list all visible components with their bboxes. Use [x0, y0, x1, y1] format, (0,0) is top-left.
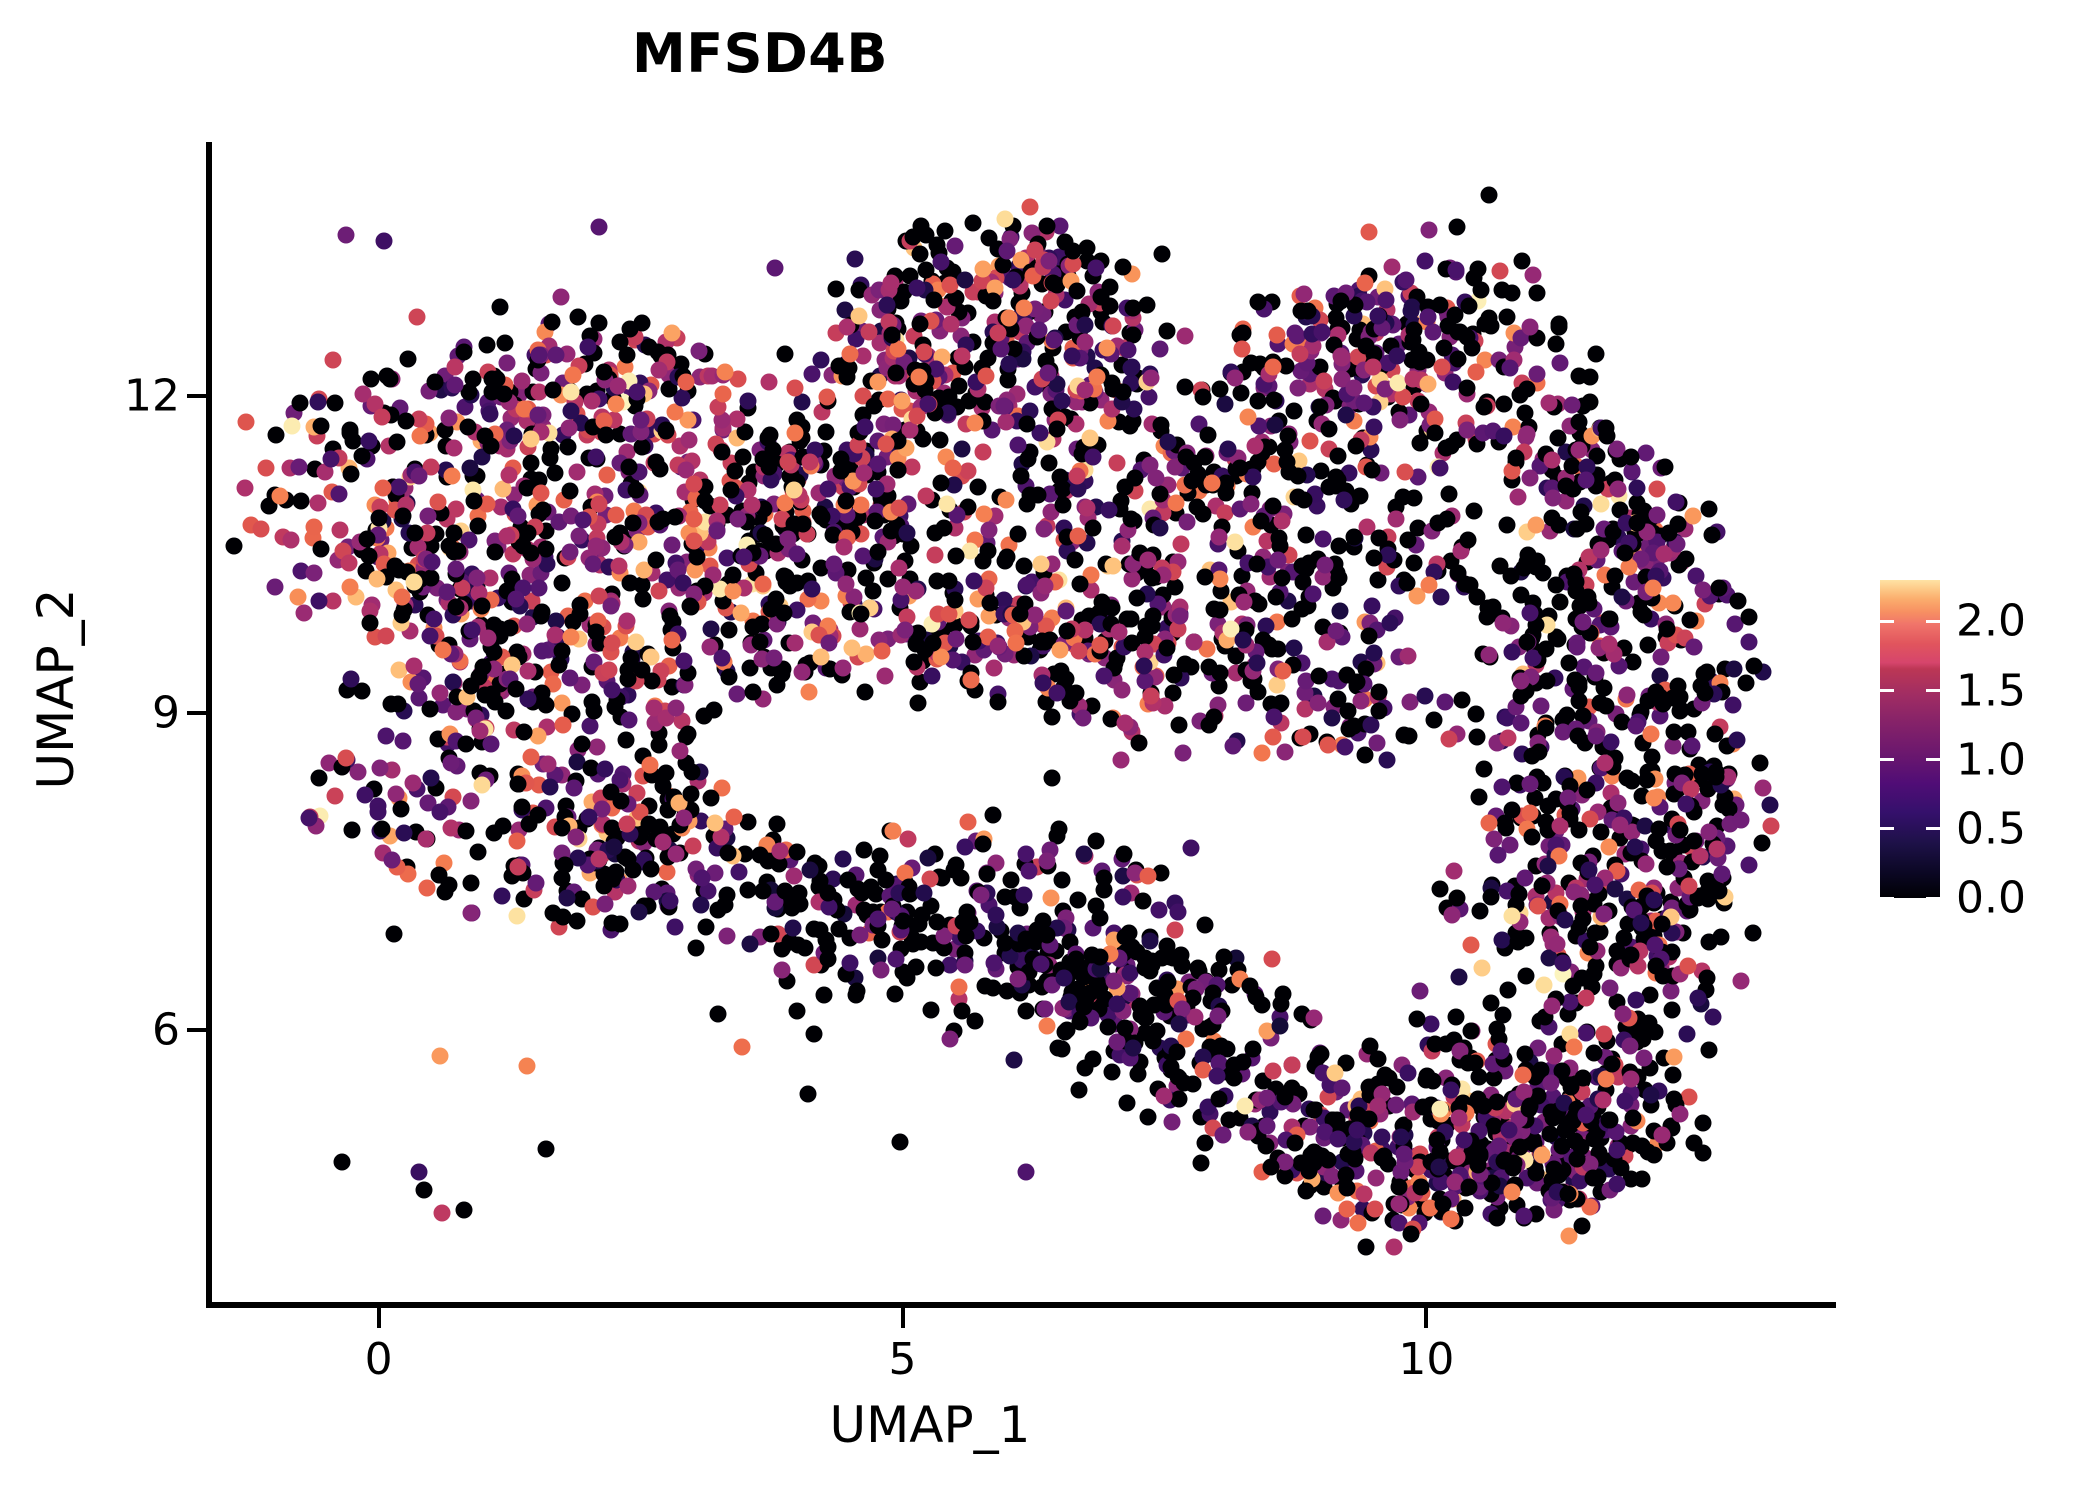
scatter-point [324, 352, 341, 369]
scatter-point [713, 443, 730, 460]
scatter-point [960, 814, 977, 831]
scatter-point [1659, 621, 1676, 638]
scatter-point [666, 918, 683, 935]
scatter-point [765, 650, 782, 667]
scatter-point [419, 880, 436, 897]
scatter-point [283, 531, 300, 548]
scatter-point [1237, 1097, 1254, 1114]
scatter-point [865, 397, 882, 414]
scatter-point [482, 405, 499, 422]
scatter-point [1434, 358, 1451, 375]
scatter-point [1077, 316, 1094, 333]
scatter-point [648, 552, 665, 569]
scatter-point [1148, 1022, 1165, 1039]
scatter-point [1328, 622, 1345, 639]
scatter-point [924, 668, 941, 685]
scatter-point [788, 546, 805, 563]
scatter-point [1095, 668, 1112, 685]
scatter-point [306, 519, 323, 536]
scatter-point [838, 575, 855, 592]
scatter-point [1392, 412, 1409, 429]
scatter-point [1611, 817, 1628, 834]
scatter-point [977, 367, 994, 384]
scatter-point [1035, 520, 1052, 537]
scatter-point [1624, 1109, 1641, 1126]
scatter-point [1053, 871, 1070, 888]
scatter-point [1701, 823, 1718, 840]
scatter-point [787, 635, 804, 652]
scatter-point [1170, 1016, 1187, 1033]
scatter-point [1290, 468, 1307, 485]
scatter-point [374, 408, 391, 425]
scatter-point [1084, 520, 1101, 537]
scatter-point [1528, 365, 1545, 382]
scatter-point [1365, 644, 1382, 661]
scatter-point [1483, 994, 1500, 1011]
scatter-point [1296, 285, 1313, 302]
scatter-point [858, 569, 875, 586]
scatter-point [1122, 360, 1139, 377]
scatter-point [1413, 1179, 1430, 1196]
scatter-point [729, 511, 746, 528]
scatter-point [1341, 720, 1358, 737]
scatter-point [1629, 480, 1646, 497]
scatter-point [1364, 358, 1381, 375]
scatter-point [1289, 380, 1306, 397]
scatter-point [1492, 1043, 1509, 1060]
scatter-point [1488, 1021, 1505, 1038]
scatter-point [469, 569, 486, 586]
scatter-point [312, 541, 329, 558]
scatter-point [1443, 1211, 1460, 1228]
scatter-point [793, 394, 810, 411]
scatter-point [1079, 239, 1096, 256]
scatter-point [1362, 717, 1379, 734]
scatter-point [595, 878, 612, 895]
scatter-point [1258, 1090, 1275, 1107]
scatter-point [1300, 1162, 1317, 1179]
scatter-point [716, 364, 733, 381]
colorbar-tick-mark [1926, 689, 1940, 692]
scatter-point [990, 637, 1007, 654]
scatter-point [1284, 611, 1301, 628]
scatter-point [1667, 494, 1684, 511]
scatter-point [1416, 253, 1433, 270]
scatter-point [643, 861, 660, 878]
scatter-point [1358, 1239, 1375, 1256]
scatter-point [1159, 433, 1176, 450]
scatter-point [1632, 603, 1649, 620]
scatter-point [540, 755, 557, 772]
scatter-point [1627, 717, 1644, 734]
scatter-point [1366, 550, 1383, 567]
scatter-point [1685, 833, 1702, 850]
scatter-point [1645, 1146, 1662, 1163]
scatter-point [1480, 814, 1497, 831]
scatter-point [1324, 710, 1341, 727]
scatter-point [1197, 568, 1214, 585]
scatter-point [867, 512, 884, 529]
scatter-point [1249, 654, 1266, 671]
scatter-point [1629, 515, 1646, 532]
scatter-point [362, 370, 379, 387]
scatter-point [1294, 558, 1311, 575]
scatter-point [1521, 470, 1538, 487]
scatter-point [523, 749, 540, 766]
scatter-point [1357, 337, 1374, 354]
scatter-point [1628, 991, 1645, 1008]
scatter-point [789, 1002, 806, 1019]
scatter-point [802, 454, 819, 471]
scatter-point [1232, 459, 1249, 476]
scatter-point [1048, 421, 1065, 438]
x-tick-label: 5 [889, 1334, 917, 1385]
scatter-point [981, 522, 998, 539]
scatter-point [1250, 294, 1267, 311]
scatter-point [1621, 559, 1638, 576]
scatter-point [1548, 335, 1565, 352]
scatter-point [890, 559, 907, 576]
scatter-point [1153, 246, 1170, 263]
scatter-point [1389, 374, 1406, 391]
scatter-point [493, 888, 510, 905]
scatter-point [607, 507, 624, 524]
scatter-point [434, 641, 451, 658]
scatter-point [1053, 392, 1070, 409]
scatter-point [1032, 633, 1049, 650]
scatter-point [292, 394, 309, 411]
scatter-point [1469, 260, 1486, 277]
scatter-point [1172, 607, 1189, 624]
scatter-point [1509, 488, 1526, 505]
scatter-point [719, 887, 736, 904]
scatter-point [1466, 502, 1483, 519]
scatter-point [482, 736, 499, 753]
scatter-point [1251, 596, 1268, 613]
scatter-point [667, 508, 684, 525]
scatter-point [1741, 857, 1758, 874]
scatter-point [1165, 667, 1182, 684]
scatter-point [1084, 1050, 1101, 1067]
scatter-point [1177, 327, 1194, 344]
scatter-point [588, 449, 605, 466]
scatter-point [956, 838, 973, 855]
scatter-point [1273, 569, 1290, 586]
scatter-point [1500, 1121, 1517, 1138]
scatter-point [1500, 729, 1517, 746]
scatter-point [1302, 432, 1319, 449]
scatter-point [1009, 970, 1026, 987]
scatter-point [724, 567, 741, 584]
scatter-point [1540, 395, 1557, 412]
scatter-point [920, 849, 937, 866]
scatter-point [1547, 577, 1564, 594]
scatter-point [1371, 703, 1388, 720]
scatter-point [1737, 674, 1754, 691]
scatter-point [1432, 1100, 1449, 1117]
scatter-point [893, 393, 910, 410]
scatter-point [736, 548, 753, 565]
scatter-point [432, 1048, 449, 1065]
scatter-point [1329, 1111, 1346, 1128]
scatter-point [406, 658, 423, 675]
scatter-point [763, 925, 780, 942]
scatter-point [338, 749, 355, 766]
scatter-point [422, 569, 439, 586]
scatter-point [932, 254, 949, 271]
scatter-point [734, 1039, 751, 1056]
scatter-point [1113, 682, 1130, 699]
scatter-point [939, 495, 956, 512]
scatter-point [1398, 272, 1415, 289]
scatter-point [1347, 1150, 1364, 1167]
scatter-point [789, 843, 806, 860]
scatter-point [1171, 1090, 1188, 1107]
scatter-point [447, 500, 464, 517]
scatter-point [560, 420, 577, 437]
scatter-point [431, 804, 448, 821]
scatter-point [607, 529, 624, 546]
scatter-point [941, 606, 958, 623]
scatter-point [912, 245, 929, 262]
scatter-point [416, 1182, 433, 1199]
scatter-point [1287, 1135, 1304, 1152]
scatter-point [1169, 903, 1186, 920]
scatter-point [986, 659, 1003, 676]
scatter-point [1461, 1178, 1478, 1195]
scatter-point [605, 839, 622, 856]
scatter-point [910, 368, 927, 385]
colorbar-tick-mark [1880, 620, 1894, 623]
scatter-point [1211, 570, 1228, 587]
scatter-point [1329, 447, 1346, 464]
scatter-point [1390, 1195, 1407, 1212]
scatter-point [1693, 678, 1710, 695]
scatter-point [1568, 520, 1585, 537]
scatter-point [427, 374, 444, 391]
scatter-point [1482, 888, 1499, 905]
scatter-point [508, 908, 525, 925]
scatter-point [1331, 603, 1348, 620]
scatter-point [404, 774, 421, 791]
scatter-point [641, 339, 658, 356]
scatter-point [1115, 889, 1132, 906]
scatter-point [1114, 259, 1131, 276]
scatter-point [1029, 922, 1046, 939]
scatter-point [811, 921, 828, 938]
scatter-point [715, 386, 732, 403]
scatter-point [588, 623, 605, 640]
scatter-point [571, 527, 588, 544]
scatter-point [310, 394, 327, 411]
scatter-point [625, 861, 642, 878]
scatter-point [514, 372, 531, 389]
scatter-point [1508, 450, 1525, 467]
colorbar-tick-mark [1926, 620, 1940, 623]
scatter-point [556, 857, 573, 874]
scatter-point [1091, 910, 1108, 927]
scatter-point [602, 597, 619, 614]
scatter-point [586, 703, 603, 720]
scatter-point [1691, 848, 1708, 865]
scatter-point [1284, 1056, 1301, 1073]
scatter-point [841, 345, 858, 362]
scatter-point [544, 381, 561, 398]
y-tick-label: 12 [124, 370, 180, 421]
scatter-point [899, 970, 916, 987]
scatter-point [1212, 601, 1229, 618]
scatter-point [1272, 1018, 1289, 1035]
scatter-point [581, 809, 598, 826]
scatter-point [1518, 425, 1535, 442]
scatter-point [683, 785, 700, 802]
scatter-point [1712, 928, 1729, 945]
scatter-point [1657, 459, 1674, 476]
scatter-point [1495, 614, 1512, 631]
scatter-point [1661, 525, 1678, 542]
scatter-point [1297, 526, 1314, 543]
scatter-point [754, 575, 771, 592]
scatter-point [1178, 514, 1195, 531]
scatter-point [1039, 365, 1056, 382]
scatter-point [370, 509, 387, 526]
scatter-point [1382, 615, 1399, 632]
scatter-point [510, 508, 527, 525]
scatter-point [1269, 677, 1286, 694]
scatter-point [1364, 462, 1381, 479]
colorbar-tick-mark [1926, 758, 1940, 761]
scatter-point [1355, 394, 1372, 411]
scatter-point [1481, 187, 1498, 204]
scatter-point [1686, 1134, 1703, 1151]
scatter-point [1522, 604, 1539, 621]
scatter-point [1538, 719, 1555, 736]
scatter-point [1021, 198, 1038, 215]
scatter-point [1334, 1080, 1351, 1097]
scatter-point [399, 350, 416, 367]
scatter-point [1431, 459, 1448, 476]
scatter-point [675, 809, 692, 826]
scatter-point [434, 1205, 451, 1222]
scatter-point [730, 863, 747, 880]
y-axis-label: UMAP_2 [27, 529, 85, 849]
scatter-point [1434, 1195, 1451, 1212]
scatter-point [1124, 299, 1141, 316]
scatter-point [1276, 1089, 1293, 1106]
y-tick-label: 9 [152, 687, 180, 738]
scatter-point [785, 482, 802, 499]
scatter-point [1071, 1081, 1088, 1098]
scatter-point [1592, 823, 1609, 840]
scatter-point [523, 455, 540, 472]
scatter-point [664, 325, 681, 342]
scatter-point [812, 648, 829, 665]
scatter-point [1182, 839, 1199, 856]
scatter-point [1518, 633, 1535, 650]
scatter-point [931, 431, 948, 448]
scatter-point [1553, 1137, 1570, 1154]
x-axis-label: UMAP_1 [0, 1396, 1860, 1454]
scatter-point [1762, 818, 1779, 835]
scatter-point [474, 777, 491, 794]
scatter-point [1450, 969, 1467, 986]
scatter-point [954, 913, 971, 930]
scatter-point [989, 693, 1006, 710]
scatter-point [450, 543, 467, 560]
scatter-point [985, 954, 1002, 971]
scatter-point [786, 379, 803, 396]
colorbar-tick-mark [1926, 897, 1940, 900]
scatter-point [635, 590, 652, 607]
scatter-point [723, 481, 740, 498]
scatter-point [353, 448, 370, 465]
scatter-point [1139, 867, 1156, 884]
scatter-point [1494, 779, 1511, 796]
scatter-point [1565, 978, 1582, 995]
scatter-point [1387, 510, 1404, 527]
scatter-point [800, 1085, 817, 1102]
scatter-point [870, 543, 887, 560]
scatter-point [596, 896, 613, 913]
scatter-point [583, 393, 600, 410]
scatter-point [1604, 1055, 1621, 1072]
scatter-point [1680, 877, 1697, 894]
scatter-point [471, 723, 488, 740]
scatter-point [544, 904, 561, 921]
scatter-point [463, 875, 480, 892]
scatter-point [915, 885, 932, 902]
scatter-point [960, 612, 977, 629]
scatter-point [1523, 747, 1540, 764]
scatter-point [483, 437, 500, 454]
scatter-point [342, 425, 359, 442]
scatter-point [1561, 654, 1578, 671]
scatter-point [1496, 428, 1513, 445]
scatter-point [572, 597, 589, 614]
scatter-point [1168, 494, 1185, 511]
scatter-point [1116, 846, 1133, 863]
scatter-point [1521, 775, 1538, 792]
scatter-point [785, 919, 802, 936]
scatter-point [374, 479, 391, 496]
scatter-point [928, 960, 945, 977]
scatter-point [848, 983, 865, 1000]
scatter-point [740, 393, 757, 410]
scatter-point [1538, 673, 1555, 690]
scatter-point [851, 927, 868, 944]
scatter-point [771, 843, 788, 860]
scatter-point [1155, 1088, 1172, 1105]
scatter-point [1000, 372, 1017, 389]
scatter-point [1403, 299, 1420, 316]
scatter-point [976, 505, 993, 522]
scatter-point [1510, 933, 1527, 950]
scatter-point [478, 337, 495, 354]
scatter-point [508, 832, 525, 849]
scatter-point [878, 296, 895, 313]
scatter-point [1186, 634, 1203, 651]
scatter-point [1751, 755, 1768, 772]
scatter-point [1274, 662, 1291, 679]
scatter-point [1137, 959, 1154, 976]
scatter-point [293, 492, 310, 509]
scatter-point [720, 844, 737, 861]
scatter-point [295, 605, 312, 622]
scatter-point [1247, 438, 1264, 455]
scatter-point [1152, 520, 1169, 537]
scatter-point [1226, 533, 1243, 550]
scatter-point [786, 424, 803, 441]
